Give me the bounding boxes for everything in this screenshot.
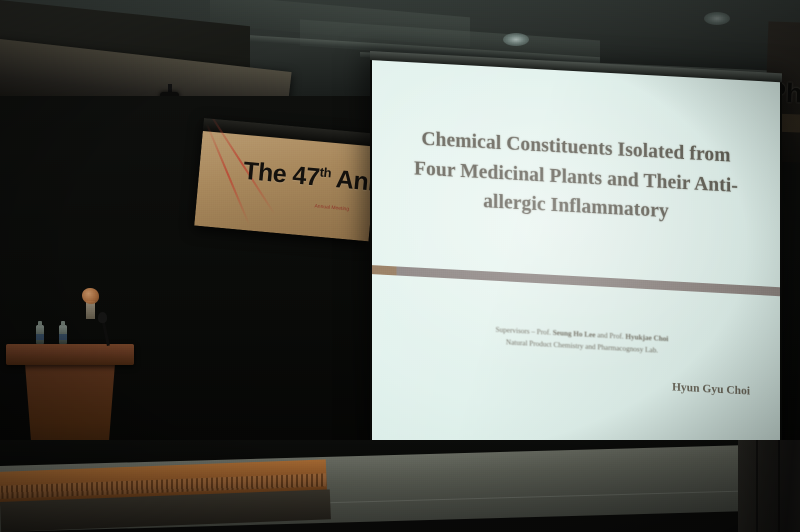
- slide-credits: Supervisors – Prof. Seung Ho Lee and Pro…: [402, 320, 762, 363]
- projection-screen-frame: Chemical Constituents Isolated from Four…: [370, 60, 782, 472]
- slide-divider-rule: [372, 265, 780, 296]
- bottle-label: [59, 334, 67, 340]
- supervisor-name-one: Seung Ho Lee: [553, 329, 596, 339]
- banner-subtitle: Annual Meeting: [314, 203, 349, 212]
- curtain-fold: [778, 440, 780, 532]
- stage-curtain: [738, 440, 800, 532]
- slide-title: Chemical Constituents Isolated from Four…: [386, 123, 766, 232]
- recessed-ceiling-light-icon: [503, 33, 529, 46]
- supervisor-name-two: Hyukjae Choi: [625, 333, 668, 343]
- bottle-label: [36, 334, 44, 340]
- banner-title: The 47th Ann: [242, 157, 378, 199]
- recessed-ceiling-light-icon: [704, 12, 730, 25]
- water-bottle: [36, 325, 44, 344]
- conference-banner: The 47th Ann Annual Meeting: [194, 118, 378, 241]
- projection-screen: Chemical Constituents Isolated from Four…: [372, 60, 780, 465]
- presentation-slide: Chemical Constituents Isolated from Four…: [372, 60, 780, 465]
- conference-hall-photo: The 47th Ann Annual Meeting Ph Chemical …: [0, 0, 800, 532]
- supervisors-conjunction: and Prof.: [595, 331, 625, 341]
- supervisors-prefix: Supervisors – Prof.: [496, 326, 553, 337]
- podium-top-surface: [6, 344, 134, 365]
- curtain-fold: [756, 440, 758, 532]
- banner-title-prefix: The 47: [242, 157, 320, 192]
- slide-presenter-name: Hyun Gyu Choi: [402, 367, 750, 398]
- banner-face: The 47th Ann Annual Meeting: [194, 131, 377, 241]
- microphone-icon: [98, 312, 107, 323]
- flower-bloom: [82, 288, 99, 304]
- water-bottle: [59, 325, 67, 344]
